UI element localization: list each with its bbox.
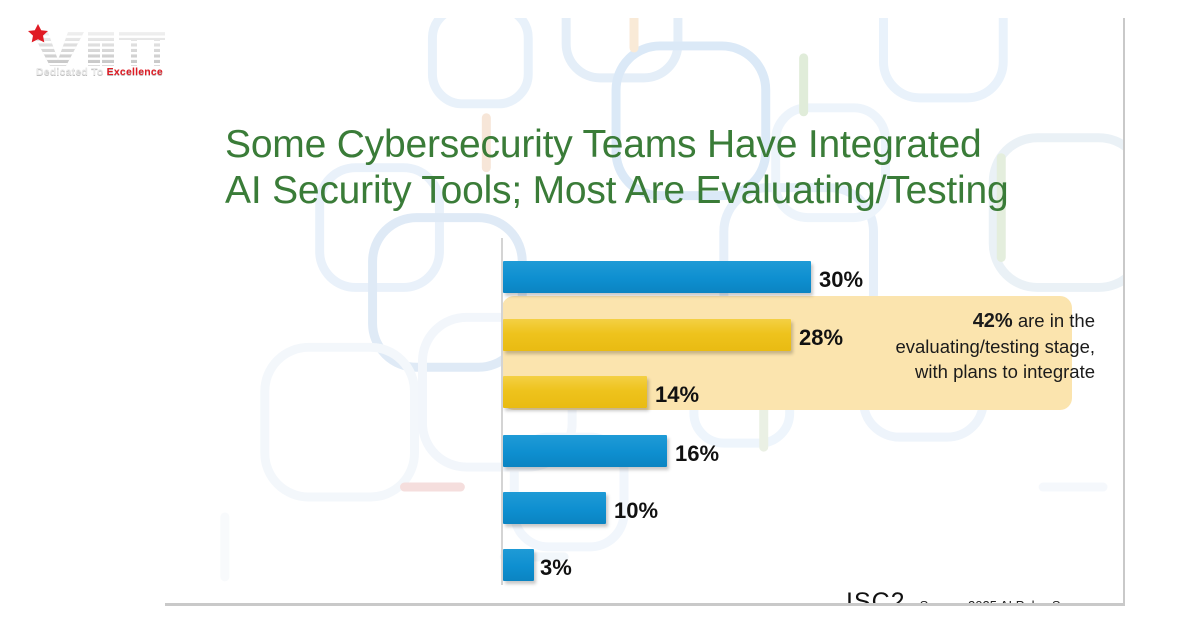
bar-value-label: 28%: [799, 325, 843, 351]
vnit-logo-icon: [24, 22, 172, 67]
isc2-logo: ISC2: [846, 590, 906, 606]
bar-value[interactable]: [503, 261, 811, 293]
bar-value-label: 3%: [540, 555, 572, 581]
bar-value[interactable]: [503, 376, 647, 408]
brand-tagline-accent: Excellence: [107, 66, 163, 78]
source-text: Source: 2025 AI Pulse Survey: [920, 599, 1093, 606]
bar-value-label: 10%: [614, 498, 658, 524]
brand-tagline: Dedicated To Excellence: [36, 66, 163, 78]
bar-value[interactable]: [503, 319, 791, 351]
bar-value-label: 16%: [675, 441, 719, 467]
content-card: Some Cybersecurity Teams Have Integrated…: [165, 18, 1125, 606]
bar-value-label: 14%: [655, 382, 699, 408]
chart-footer: ISC2 Source: 2025 AI Pulse Survey: [846, 590, 1092, 606]
brand-logo: Dedicated To Excellence: [24, 22, 172, 84]
bar-value[interactable]: [503, 492, 606, 524]
brand-tagline-prefix: Dedicated To: [36, 66, 107, 78]
bar-value-label: 30%: [819, 267, 863, 293]
bar-value[interactable]: [503, 435, 667, 467]
callout-percent: 42%: [973, 310, 1013, 332]
bar-chart: We've already integrated AI security too…: [165, 18, 1123, 603]
callout-annotation: 42% are in the evaluating/testing stage,…: [895, 308, 1095, 384]
bar-value[interactable]: [503, 549, 534, 581]
